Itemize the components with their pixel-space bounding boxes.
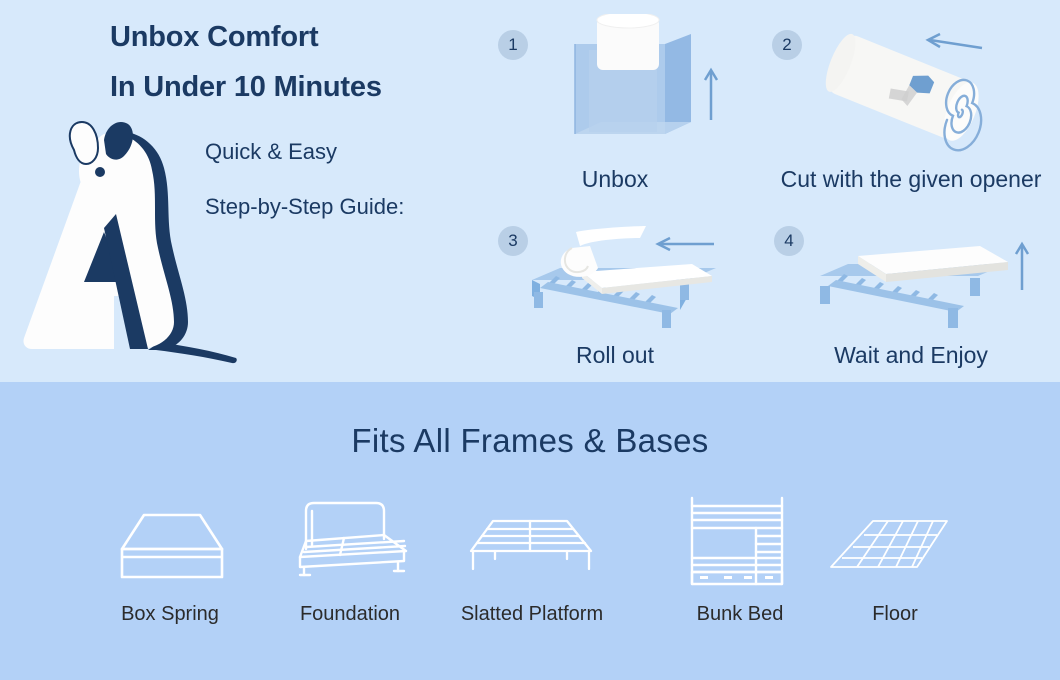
step-2: 2 (762, 14, 1060, 194)
headline-block: Unbox Comfort In Under 10 Minutes (110, 12, 500, 112)
frame-label-box-spring: Box Spring (70, 603, 270, 626)
subheadline-line-2: Step-by-Step Guide: (205, 179, 505, 234)
step-2-caption: Cut with the given opener (742, 166, 1060, 193)
step-1: 1 (490, 14, 740, 194)
subheadline-block: Quick & Easy Step-by-Step Guide: (205, 124, 505, 234)
fits-all-frames-title: Fits All Frames & Bases (0, 422, 1060, 460)
frame-item-slatted-platform: Slatted Platform (432, 492, 632, 626)
frame-label-floor: Floor (795, 603, 995, 626)
step-1-caption: Unbox (490, 166, 740, 193)
step-4: 4 (762, 214, 1060, 379)
headline-line-2: In Under 10 Minutes (110, 62, 500, 112)
box-spring-icon (70, 492, 270, 597)
frame-label-slatted-platform: Slatted Platform (432, 603, 632, 626)
mattress-unrolling-on-slatted-frame-icon (520, 218, 750, 343)
rolled-mattress-with-cutter-icon (810, 26, 1030, 171)
infographic-page: Unbox Comfort In Under 10 Minutes Quick … (0, 0, 1060, 680)
step-3: 3 (490, 214, 740, 379)
step-4-caption: Wait and Enjoy (762, 342, 1060, 369)
step-2-badge: 2 (772, 30, 802, 60)
frame-label-foundation: Foundation (250, 603, 450, 626)
open-box-with-mattress-roll-icon (545, 14, 735, 159)
headline-line-1: Unbox Comfort (110, 12, 500, 62)
frame-types-row: Box Spring (0, 492, 1060, 652)
frame-item-box-spring: Box Spring (70, 492, 270, 626)
kangaroo-a-logo (8, 110, 248, 370)
step-4-badge: 4 (774, 226, 804, 256)
step-3-caption: Roll out (490, 342, 740, 369)
subheadline-line-1: Quick & Easy (205, 124, 505, 179)
slatted-platform-icon (432, 492, 632, 597)
floor-grid-icon (795, 492, 995, 597)
step-1-badge: 1 (498, 30, 528, 60)
frame-item-floor: Floor (795, 492, 995, 626)
foundation-bed-frame-icon (250, 492, 450, 597)
frame-item-foundation: Foundation (250, 492, 450, 626)
steps-section: Unbox Comfort In Under 10 Minutes Quick … (0, 0, 1060, 382)
expanded-mattress-on-slatted-frame-icon (810, 224, 1040, 344)
